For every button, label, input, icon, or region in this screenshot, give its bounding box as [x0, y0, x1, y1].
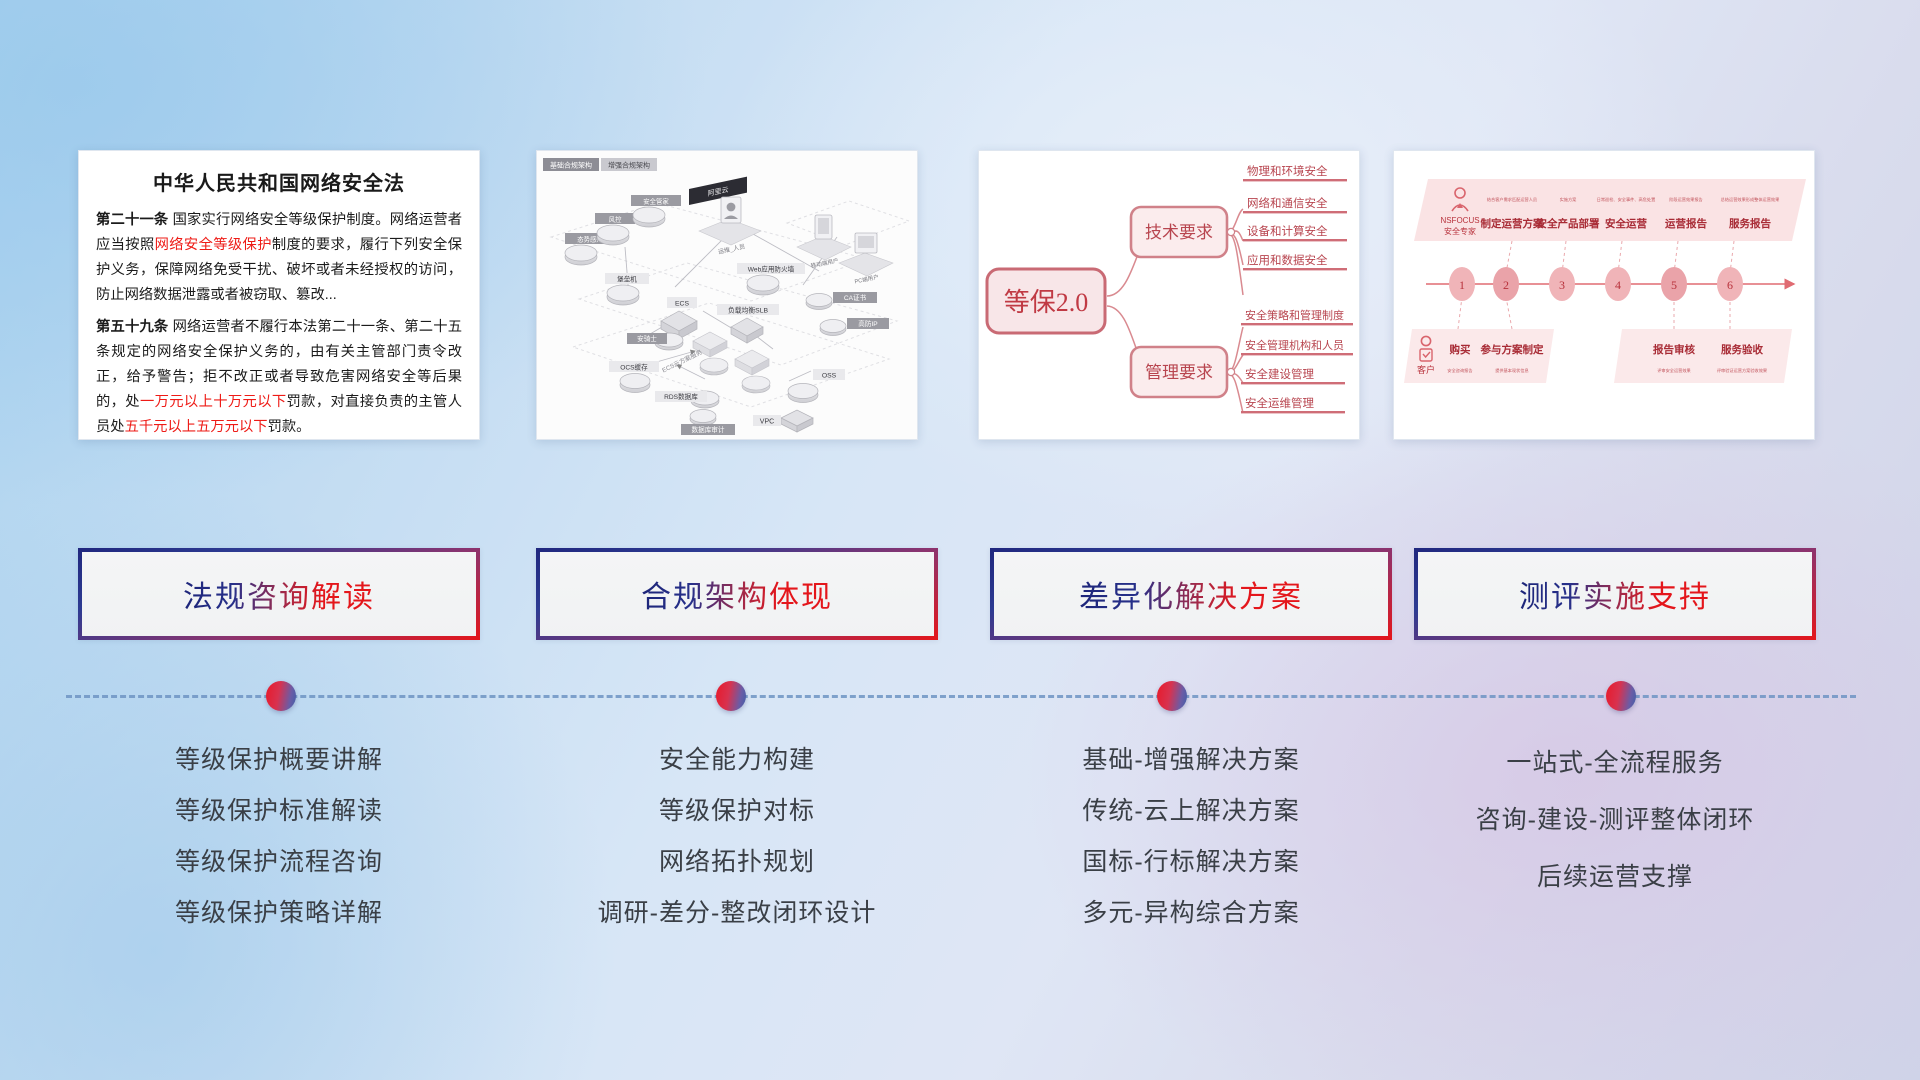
- law-article-21-label: 第二十一条: [96, 212, 168, 228]
- svg-text:安全咨询报告: 安全咨询报告: [1447, 367, 1472, 374]
- title-label-3: 差异化解决方案: [1079, 572, 1303, 616]
- list-item: 多元-异构综合方案: [990, 888, 1392, 939]
- law-article-59-fine-2: 五千元以上五万元以下: [125, 419, 268, 435]
- svg-text:安全建设管理: 安全建设管理: [1245, 367, 1314, 381]
- svg-text:安骑士: 安骑士: [637, 334, 657, 343]
- svg-text:OCS缓存: OCS缓存: [620, 363, 648, 372]
- dashed-connector-line: [66, 695, 1856, 698]
- list-item: 安全能力构建: [536, 735, 938, 786]
- mindmap-diagram: 等保2.0 技术要求 物理和环境安全 网络和通信安全 设备和计算安全 应用和数据…: [979, 151, 1359, 439]
- svg-text:OSS: OSS: [822, 373, 837, 380]
- detail-column-2: 安全能力构建 等级保护对标 网络拓扑规划 调研-差分-整改闭环设计: [536, 735, 938, 939]
- svg-text:日常巡检、安全事件、高危处置: 日常巡检、安全事件、高危处置: [1597, 196, 1656, 203]
- svg-text:安全运维管理: 安全运维管理: [1245, 396, 1314, 410]
- list-item: 调研-差分-整改闭环设计: [536, 888, 938, 939]
- law-title: 中华人民共和国网络安全法: [96, 167, 462, 196]
- svg-text:报告审核: 报告审核: [1653, 343, 1695, 356]
- section-title-boxes: 法规咨询解读 合规架构体现 差异化解决方案 测评实施支持: [0, 548, 1920, 640]
- timeline-dot-4[interactable]: [1606, 681, 1636, 711]
- mindmap-svg: 等保2.0 技术要求 物理和环境安全 网络和通信安全 设备和计算安全 应用和数据…: [979, 151, 1360, 440]
- svg-text:3: 3: [1559, 278, 1565, 292]
- svg-text:安全产品部署: 安全产品部署: [1537, 217, 1600, 230]
- svg-text:1: 1: [1459, 278, 1465, 292]
- detail-column-1: 等级保护概要讲解 等级保护标准解读 等级保护流程咨询 等级保护策略详解: [78, 735, 480, 939]
- svg-text:结合客户需求匹配运营人员: 结合客户需求匹配运营人员: [1487, 196, 1537, 203]
- service-timeline-diagram: 1 2 3 4 5 6 NSFOCUS: [1394, 151, 1814, 439]
- svg-text:物理和环境安全: 物理和环境安全: [1247, 164, 1328, 178]
- svg-text:购买: 购买: [1450, 343, 1472, 356]
- title-label-2: 合规架构体现: [641, 572, 833, 616]
- list-item: 等级保护对标: [536, 786, 938, 837]
- svg-text:运营报告: 运营报告: [1665, 217, 1707, 230]
- service-timeline-svg: 1 2 3 4 5 6 NSFOCUS: [1394, 151, 1815, 440]
- svg-text:参与方案制定: 参与方案制定: [1481, 343, 1544, 356]
- title-label-4: 测评实施支持: [1519, 572, 1711, 616]
- svg-text:制定运营方案: 制定运营方案: [1481, 217, 1544, 230]
- svg-text:负载均衡SLB: 负载均衡SLB: [728, 306, 769, 315]
- svg-text:5: 5: [1671, 278, 1677, 292]
- svg-text:服务验收: 服务验收: [1721, 343, 1763, 356]
- svg-text:应用和数据安全: 应用和数据安全: [1247, 253, 1328, 267]
- timeline-dot-3[interactable]: [1157, 681, 1187, 711]
- title-box-regulation-consulting[interactable]: 法规咨询解读: [78, 548, 480, 640]
- card-cybersecurity-law[interactable]: 中华人民共和国网络安全法 第二十一条 国家实行网络安全等级保护制度。网络运营者应…: [78, 150, 480, 440]
- list-item: 一站式-全流程服务: [1414, 735, 1816, 792]
- timeline-bottom-band-right: [1614, 329, 1792, 383]
- svg-text:4: 4: [1615, 278, 1621, 292]
- mindmap-branch-tech: 技术要求: [1131, 207, 1235, 257]
- svg-text:NSFOCUS: NSFOCUS: [1440, 216, 1479, 225]
- title-box-compliance-architecture[interactable]: 合规架构体现: [536, 548, 938, 640]
- svg-text:总结运营效果形成整体运营效果: 总结运营效果形成整体运营效果: [1721, 196, 1780, 203]
- architecture-diagram: 态势感知 风控 安全管家: [537, 151, 917, 439]
- svg-text:实施方案: 实施方案: [1560, 196, 1578, 203]
- svg-text:基础合规架构: 基础合规架构: [550, 161, 592, 170]
- timeline-dot-2[interactable]: [716, 681, 746, 711]
- law-article-59-text-end: 罚款。: [268, 419, 311, 435]
- svg-text:2: 2: [1503, 278, 1509, 292]
- svg-text:安全运营: 安全运营: [1605, 217, 1647, 230]
- list-item: 后续运营支撑: [1414, 849, 1816, 906]
- law-article-59-fine-1: 一万元以上十万元以下: [140, 394, 287, 410]
- svg-text:6: 6: [1727, 278, 1733, 292]
- svg-text:ECS: ECS: [675, 301, 689, 308]
- svg-text:RDS数据库: RDS数据库: [664, 392, 698, 401]
- detail-column-4: 一站式-全流程服务 咨询-建设-测评整体闭环 后续运营支撑: [1414, 735, 1816, 906]
- law-card-body: 中华人民共和国网络安全法 第二十一条 国家实行网络安全等级保护制度。网络运营者应…: [79, 151, 479, 440]
- detail-columns: 等级保护概要讲解 等级保护标准解读 等级保护流程咨询 等级保护策略详解 安全能力…: [0, 735, 1920, 965]
- card-compliance-architecture[interactable]: 态势感知 风控 安全管家: [536, 150, 918, 440]
- svg-text:VPC: VPC: [760, 419, 774, 426]
- svg-text:安全专家: 安全专家: [1444, 226, 1476, 236]
- svg-text:等保2.0: 等保2.0: [1004, 288, 1089, 317]
- mindmap-branch-mgmt: 管理要求: [1131, 347, 1235, 397]
- svg-text:提供基本现状信息: 提供基本现状信息: [1495, 367, 1529, 374]
- svg-text:评审验证运营方案验收效果: 评审验证运营方案验收效果: [1717, 367, 1768, 374]
- svg-text:服务报告: 服务报告: [1729, 217, 1771, 230]
- svg-text:管理要求: 管理要求: [1145, 363, 1213, 382]
- list-item: 国标-行标解决方案: [990, 837, 1392, 888]
- list-item: 网络拓扑规划: [536, 837, 938, 888]
- svg-text:风控: 风控: [609, 215, 622, 224]
- law-article-59-label: 第五十九条: [96, 319, 168, 335]
- svg-text:数据库审计: 数据库审计: [692, 425, 725, 434]
- svg-text:阶段运营效果报告: 阶段运营效果报告: [1669, 196, 1703, 203]
- svg-text:Web应用防火墙: Web应用防火墙: [748, 265, 795, 274]
- svg-text:安全策略和管理制度: 安全策略和管理制度: [1245, 308, 1344, 322]
- svg-text:高防IP: 高防IP: [858, 319, 878, 328]
- svg-text:设备和计算安全: 设备和计算安全: [1247, 224, 1328, 238]
- svg-text:安全管理机构和人员: 安全管理机构和人员: [1245, 338, 1344, 352]
- svg-text:网络和通信安全: 网络和通信安全: [1247, 196, 1328, 210]
- architecture-svg: 态势感知 风控 安全管家: [537, 151, 918, 440]
- list-item: 等级保护概要讲解: [78, 735, 480, 786]
- law-paragraph-21: 第二十一条 国家实行网络安全等级保护制度。网络运营者应当按照网络安全等级保护制度…: [96, 208, 462, 308]
- list-item: 传统-云上解决方案: [990, 786, 1392, 837]
- svg-text:评审安全运营效果: 评审安全运营效果: [1657, 367, 1691, 374]
- feature-image-cards: 中华人民共和国网络安全法 第二十一条 国家实行网络安全等级保护制度。网络运营者应…: [0, 150, 1920, 440]
- list-item: 基础-增强解决方案: [990, 735, 1392, 786]
- title-label-1: 法规咨询解读: [183, 572, 375, 616]
- title-box-assessment-support[interactable]: 测评实施支持: [1414, 548, 1816, 640]
- svg-text:安全管家: 安全管家: [643, 197, 669, 206]
- timeline-dot-1[interactable]: [266, 681, 296, 711]
- detail-column-3: 基础-增强解决方案 传统-云上解决方案 国标-行标解决方案 多元-异构综合方案: [990, 735, 1392, 939]
- title-box-differentiated-solution[interactable]: 差异化解决方案: [990, 548, 1392, 640]
- law-article-21-highlight: 网络安全等级保护: [155, 237, 272, 253]
- svg-text:堡垒机: 堡垒机: [617, 275, 637, 284]
- card-dengbao-mindmap[interactable]: 等保2.0 技术要求 物理和环境安全 网络和通信安全 设备和计算安全 应用和数据…: [978, 150, 1360, 440]
- list-item: 等级保护流程咨询: [78, 837, 480, 888]
- svg-text:技术要求: 技术要求: [1145, 223, 1213, 242]
- card-nsfocus-service-timeline[interactable]: 1 2 3 4 5 6 NSFOCUS: [1393, 150, 1815, 440]
- timeline-axis-bar: [66, 694, 1856, 698]
- svg-text:客户: 客户: [1417, 364, 1435, 375]
- list-item: 咨询-建设-测评整体闭环: [1414, 792, 1816, 849]
- mindmap-root-node: 等保2.0: [987, 269, 1105, 333]
- law-paragraph-59: 第五十九条 网络运营者不履行本法第二十一条、第二十五条规定的网络安全保护义务的，…: [96, 315, 462, 440]
- svg-text:CA证书: CA证书: [844, 293, 867, 302]
- list-item: 等级保护标准解读: [78, 786, 480, 837]
- list-item: 等级保护策略详解: [78, 888, 480, 939]
- svg-text:增强合规架构: 增强合规架构: [608, 161, 650, 170]
